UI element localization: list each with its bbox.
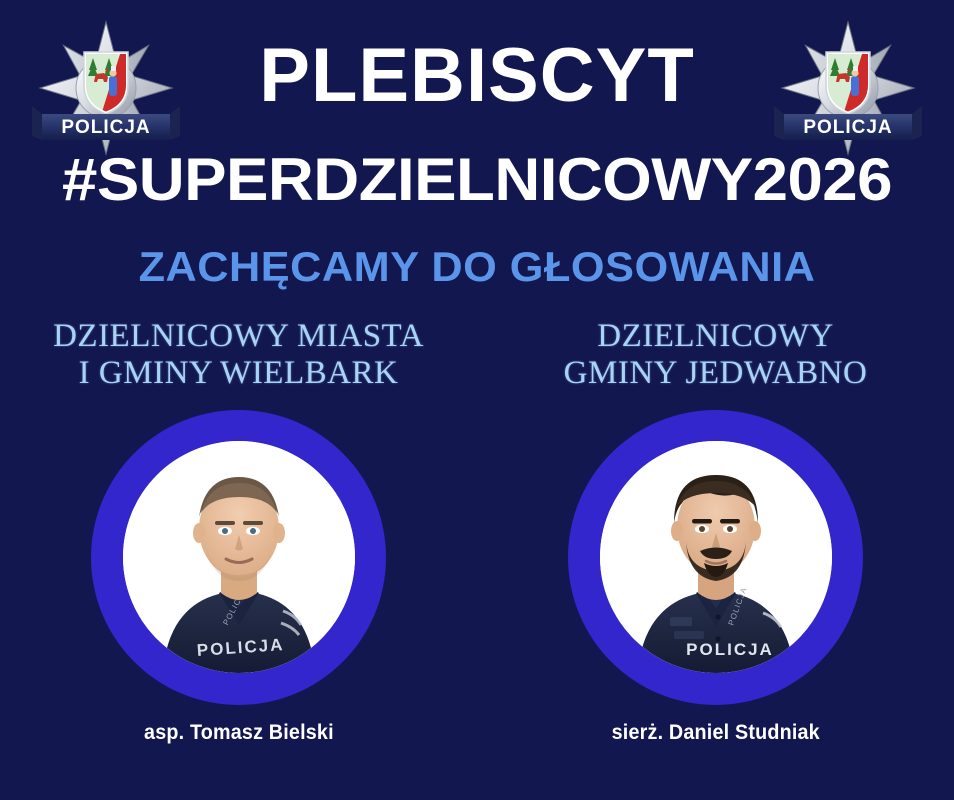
officer-name-left: asp. Tomasz Bielski bbox=[144, 721, 334, 745]
poster-title: PLEBISCYT bbox=[0, 38, 954, 114]
officer-card-left: DZIELNICOWY MIASTA I GMINY WIELBARK bbox=[0, 318, 477, 788]
officers-row: DZIELNICOWY MIASTA I GMINY WIELBARK bbox=[0, 318, 954, 788]
officer-name-right: sierż. Daniel Studniak bbox=[611, 721, 819, 745]
officer-role-right-line2: GMINY JEDWABNO bbox=[564, 355, 868, 392]
poster-hashtag: #SUPERDZIELNICOWY2026 bbox=[0, 150, 954, 210]
officer-portrait-ring-left: POLICJA POLICJA bbox=[91, 410, 386, 705]
officer-portrait-ring-right: POLICJA POLICJA bbox=[568, 410, 863, 705]
officer-role-left-line1: DZIELNICOWY MIASTA bbox=[53, 318, 424, 354]
officer-role-right-line1: DZIELNICOWY bbox=[597, 318, 833, 354]
uniform-policja-label: POLICJA bbox=[686, 640, 774, 659]
officer-role-right: DZIELNICOWY GMINY JEDWABNO bbox=[564, 318, 868, 392]
poster-call-to-action: ZACHĘCAMY DO GŁOSOWANIA bbox=[0, 246, 954, 288]
poster-canvas: POLICJA bbox=[0, 0, 954, 800]
officer-role-left-line2: I GMINY WIELBARK bbox=[53, 355, 424, 392]
officer-portrait-photo-right: POLICJA POLICJA bbox=[600, 441, 832, 673]
officer-card-right: DZIELNICOWY GMINY JEDWABNO bbox=[477, 318, 954, 788]
badge-banner-text: POLICJA bbox=[61, 117, 150, 138]
officer-role-left: DZIELNICOWY MIASTA I GMINY WIELBARK bbox=[53, 318, 424, 392]
officer-portrait-photo-left: POLICJA POLICJA bbox=[123, 441, 355, 673]
badge-banner-text: POLICJA bbox=[803, 117, 892, 138]
